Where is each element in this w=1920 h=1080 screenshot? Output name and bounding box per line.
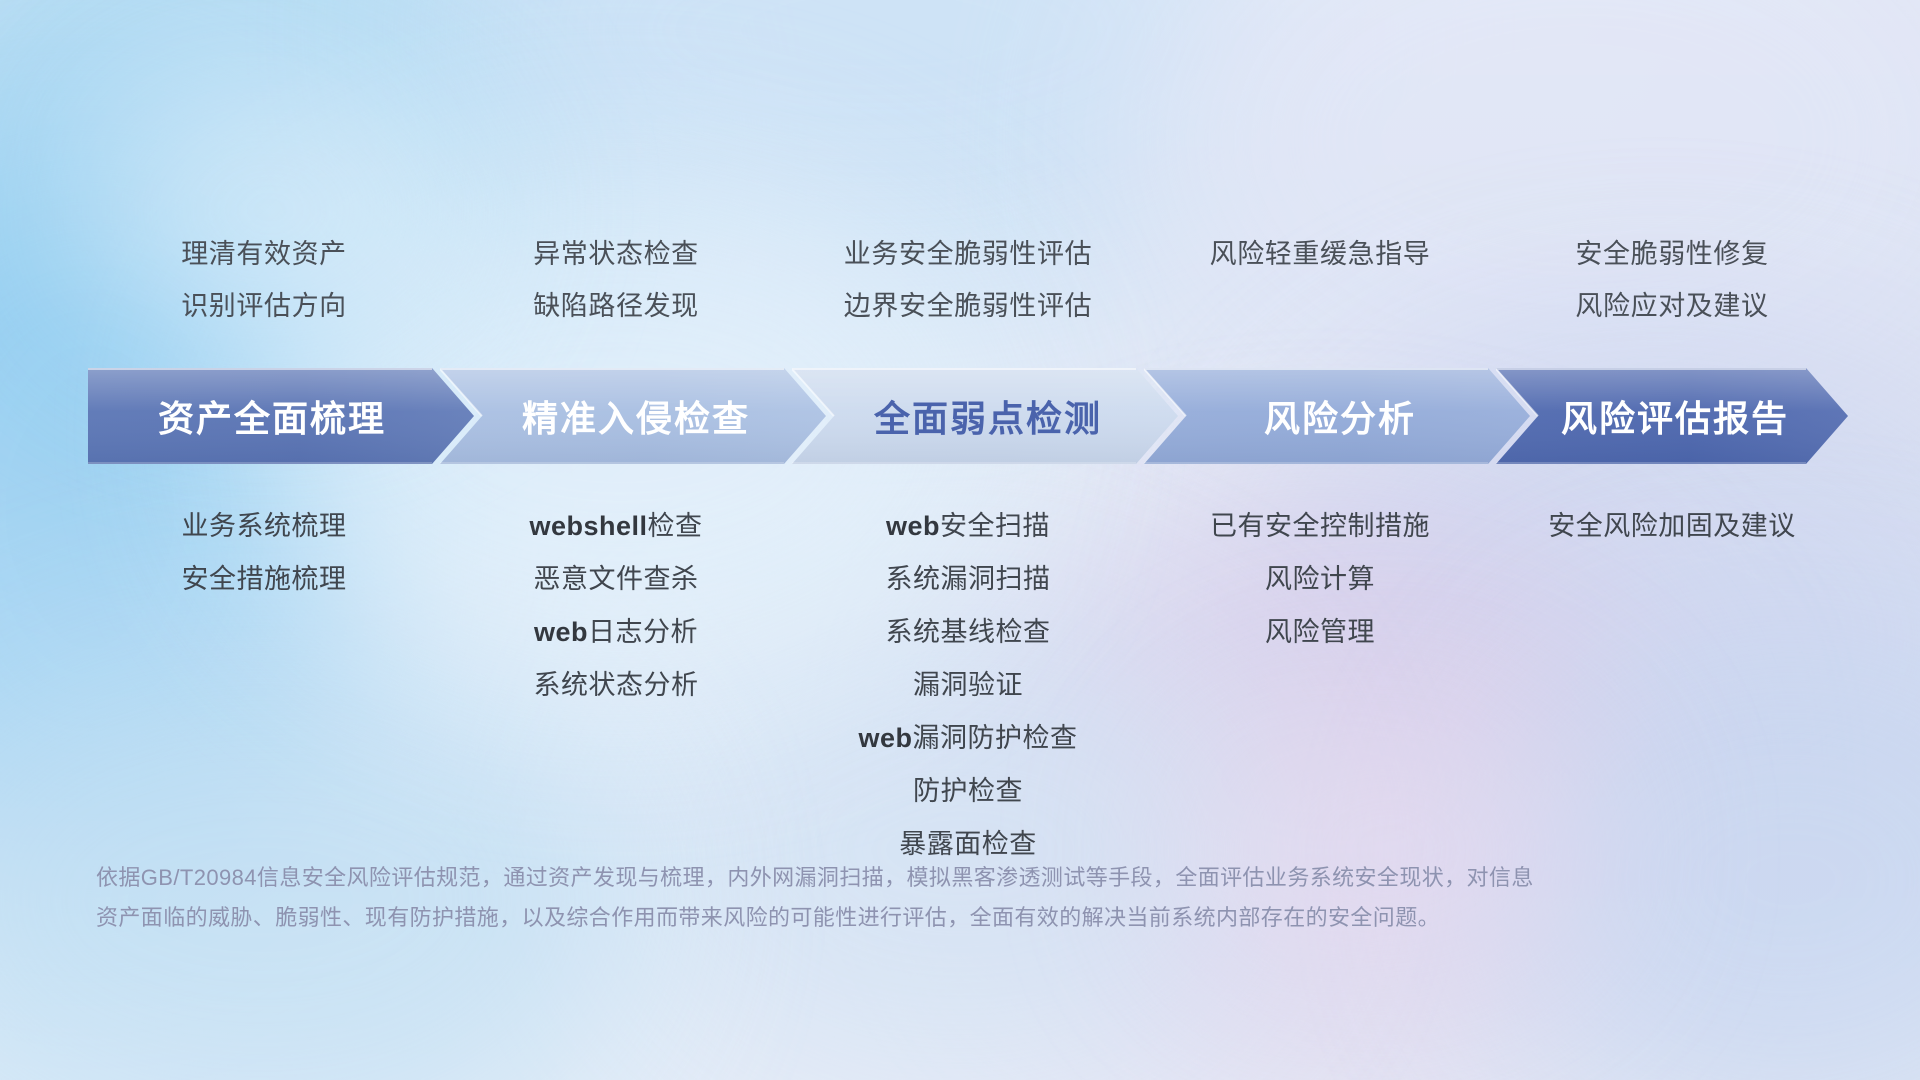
top-note: 业务安全脆弱性评估 [844, 228, 1092, 280]
footnote: 依据GB/T20984信息安全风险评估规范，通过资产发现与梳理，内外网漏洞扫描，… [96, 858, 1576, 938]
list-item: 系统漏洞扫描 [886, 553, 1051, 606]
footnote-line-1: 依据GB/T20984信息安全风险评估规范，通过资产发现与梳理，内外网漏洞扫描，… [96, 858, 1576, 898]
list-item: 安全风险加固及建议 [1548, 500, 1796, 553]
top-note: 异常状态检查 [533, 228, 699, 280]
chevron-stage-1[interactable]: 资产全面梳理 [88, 368, 474, 464]
list-item: web日志分析 [534, 606, 698, 659]
list-item: 防护检查 [913, 765, 1023, 818]
process-diagram: 理清有效资产识别评估方向异常状态检查缺陷路径发现业务安全脆弱性评估边界安全脆弱性… [0, 0, 1920, 1080]
list-item: 已有安全控制措施 [1210, 500, 1430, 553]
footnote-line-2: 资产面临的威胁、脆弱性、现有防护措施，以及综合作用而带来风险的可能性进行评估，全… [96, 898, 1576, 938]
top-note: 缺陷路径发现 [533, 280, 699, 332]
top-notes-stage-1: 理清有效资产识别评估方向 [88, 228, 440, 332]
top-notes-stage-5: 安全脆弱性修复风险应对及建议 [1496, 228, 1848, 332]
chevron-stage-5[interactable]: 风险评估报告 [1496, 368, 1848, 464]
chevron-stage-2[interactable]: 精准入侵检查 [440, 368, 826, 464]
list-item-text: 安全扫描 [940, 511, 1050, 541]
chevron-label: 资产全面梳理 [158, 390, 386, 442]
list-item: web安全扫描 [886, 500, 1050, 553]
list-item-keyword: web [858, 723, 912, 753]
top-note: 识别评估方向 [181, 280, 347, 332]
list-item: web漏洞防护检查 [858, 712, 1077, 765]
top-notes-stage-2: 异常状态检查缺陷路径发现 [440, 228, 792, 332]
top-note: 风险应对及建议 [1575, 280, 1768, 332]
list-item-keyword: web [534, 617, 588, 647]
chevron-stage-3[interactable]: 全面弱点检测 [792, 368, 1178, 464]
list-item: 漏洞验证 [913, 659, 1023, 712]
list-item-text: 检查 [648, 511, 703, 541]
items-stage-5: 安全风险加固及建议 [1496, 500, 1848, 553]
items-stage-4: 已有安全控制措施风险计算风险管理 [1144, 500, 1496, 659]
top-note: 风险轻重缓急指导 [1210, 228, 1431, 280]
top-notes-stage-3: 业务安全脆弱性评估边界安全脆弱性评估 [792, 228, 1144, 332]
list-item: webshell检查 [529, 500, 702, 553]
list-item: 恶意文件查杀 [534, 553, 699, 606]
process-chevron-bar: 资产全面梳理精准入侵检查全面弱点检测风险分析风险评估报告 [88, 368, 1848, 464]
list-item-keyword: web [886, 511, 940, 541]
items-stage-1: 业务系统梳理安全措施梳理 [88, 500, 440, 606]
top-note: 理清有效资产 [181, 228, 347, 280]
top-note: 安全脆弱性修复 [1575, 228, 1768, 280]
chevron-label: 风险评估报告 [1561, 390, 1789, 442]
top-note: 边界安全脆弱性评估 [844, 280, 1092, 332]
top-notes-stage-4: 风险轻重缓急指导 [1144, 228, 1496, 280]
items-stage-2: webshell检查恶意文件查杀web日志分析系统状态分析 [440, 500, 792, 712]
list-item: 系统状态分析 [534, 659, 699, 712]
list-item-keyword: webshell [529, 511, 647, 541]
list-item-text: 漏洞防护检查 [913, 723, 1078, 753]
list-item-text: 日志分析 [588, 617, 698, 647]
items-stage-3: web安全扫描系统漏洞扫描系统基线检查漏洞验证web漏洞防护检查防护检查暴露面检… [792, 500, 1144, 871]
chevron-label: 全面弱点检测 [874, 390, 1102, 442]
chevron-stage-4[interactable]: 风险分析 [1144, 368, 1530, 464]
chevron-label: 风险分析 [1264, 390, 1416, 442]
list-item: 风险管理 [1265, 606, 1375, 659]
list-item: 业务系统梳理 [182, 500, 347, 553]
chevron-label: 精准入侵检查 [522, 390, 750, 442]
list-item: 安全措施梳理 [182, 553, 347, 606]
list-item: 风险计算 [1265, 553, 1375, 606]
list-item: 系统基线检查 [886, 606, 1051, 659]
